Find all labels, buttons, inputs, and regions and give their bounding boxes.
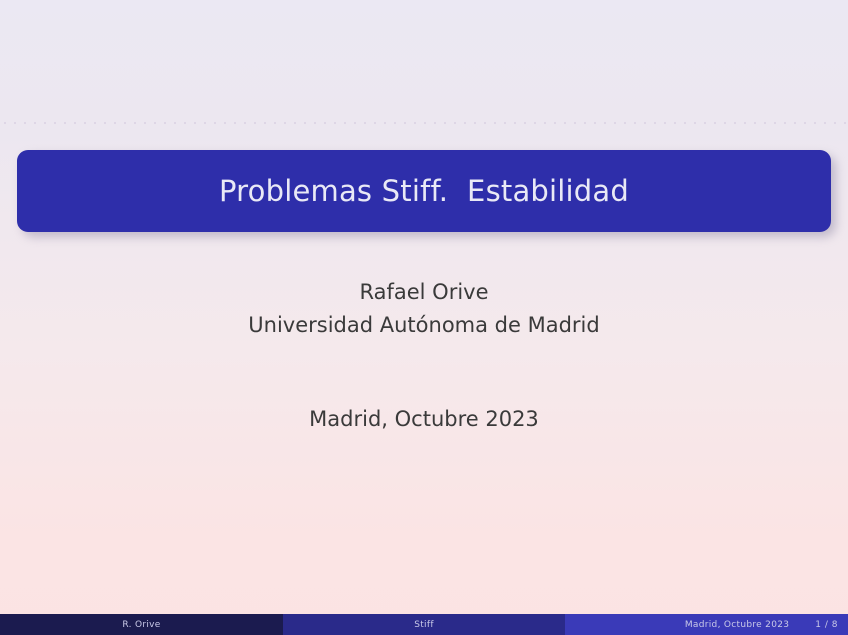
footer-page-number: 1 / 8 [815, 620, 838, 630]
title-banner: Problemas Stiff. Estabilidad [17, 150, 831, 232]
presentation-slide: Problemas Stiff. Estabilidad Rafael Oriv… [0, 0, 848, 635]
footer-author: R. Orive [0, 614, 283, 635]
footer-short-title: Stiff [283, 614, 565, 635]
author-name: Rafael Orive [0, 276, 848, 309]
author-affiliation: Universidad Autónoma de Madrid [0, 309, 848, 342]
footer-date-page: Madrid, Octubre 2023 1 / 8 [565, 614, 848, 635]
slide-date: Madrid, Octubre 2023 [0, 407, 848, 431]
author-block: Rafael Orive Universidad Autónoma de Mad… [0, 276, 848, 342]
slide-footer: R. Orive Stiff Madrid, Octubre 2023 1 / … [0, 614, 848, 635]
slide-title: Problemas Stiff. Estabilidad [219, 174, 629, 208]
footer-date: Madrid, Octubre 2023 [685, 620, 789, 630]
dotted-separator [0, 122, 848, 124]
